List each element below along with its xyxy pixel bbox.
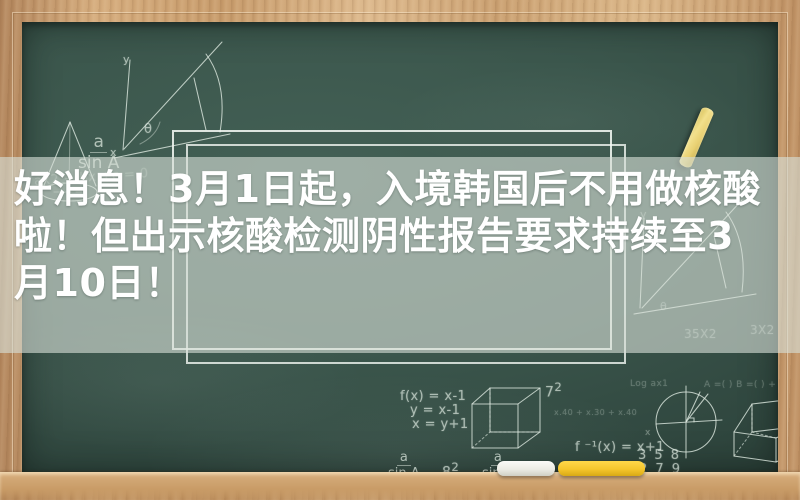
cube-diagram-right <box>730 394 778 468</box>
note-3x2: 3X2 <box>750 323 775 337</box>
yellow-chalk-stick-on-tray[interactable] <box>558 461 645 476</box>
fraction-numerator: a <box>397 451 411 466</box>
fraction-numerator: a <box>90 134 106 153</box>
headline-line-3: 月10日！ <box>14 260 800 307</box>
power-of-seven-note: 72 <box>545 380 562 401</box>
angle-label-theta-topleft: θ <box>144 122 152 137</box>
headline-line-2: 啦！但出示核酸检测阴性报告要求持续至3 <box>14 213 800 260</box>
yellow-chalk-stick-on-board[interactable] <box>678 106 715 169</box>
function-note-line1: f(x) = x-1 <box>400 389 466 404</box>
power-exponent: 2 <box>451 460 459 472</box>
chalk-tray-ledge <box>0 472 800 500</box>
function-note-line3: x = y+1 <box>412 417 469 432</box>
white-chalk-stick-on-tray[interactable] <box>497 461 555 476</box>
power-base: 8 <box>442 465 451 472</box>
power-of-eight-note: 82 <box>442 460 459 472</box>
arith-row-1: 3 5 8 <box>638 448 681 463</box>
note-35x2: 35X2 <box>684 327 717 341</box>
arith-x-label: x <box>645 428 651 438</box>
axis-label-y-topleft: y <box>123 53 130 66</box>
function-note-line2: y = x-1 <box>410 403 460 418</box>
power-base: 7 <box>545 385 554 401</box>
power-exponent: 2 <box>554 380 562 394</box>
axis-label-x-topleft: x <box>110 146 117 159</box>
headline-line-1: 好消息！3月1日起，入境韩国后不用做核酸 <box>14 166 800 213</box>
smudged-formula-note: x.40 + x.30 + x.40 <box>554 408 637 417</box>
cube-diagram-center <box>466 382 548 460</box>
fraction-a-over-sinA-bottom-left: a sin A <box>388 449 420 472</box>
circle-angle-diagram <box>650 382 728 462</box>
inverse-function-note: f ⁻¹(x) = x+1 <box>575 440 665 455</box>
matrix-note: A =( ) B =( ) + =( ) <box>704 380 778 390</box>
angle-construction-diagram <box>110 32 240 162</box>
headline-text: 好消息！3月1日起，入境韩国后不用做核酸 啦！但出示核酸检测阴性报告要求持续至3… <box>14 166 800 307</box>
log-note-right: Log ax1 <box>630 379 668 389</box>
arith-row-2: 2 7 9 <box>639 462 682 472</box>
chalkboard-scene: a sin A ax2 + bx +c = 0 y x θ y θ <box>0 0 800 500</box>
